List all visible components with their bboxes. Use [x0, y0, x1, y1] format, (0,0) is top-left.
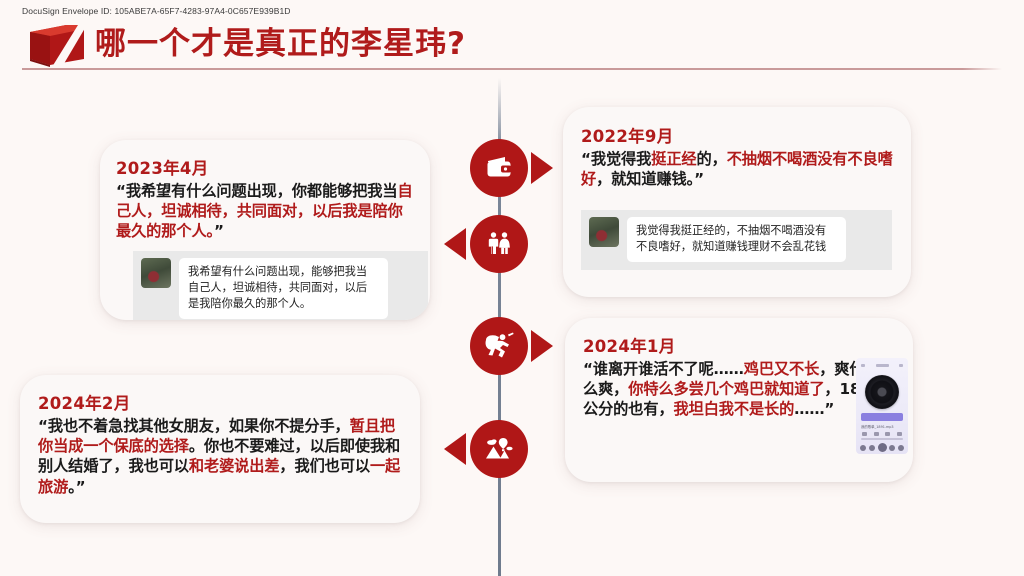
card-date: 2024年2月: [38, 390, 404, 414]
chat-screenshot: 我觉得我挺正经的，不抽烟不喝酒没有不良嗜好，就知道赚钱理财不会乱花钱: [581, 210, 892, 270]
card-quote: “我也不着急找其他女朋友，如果你不提分手，暂且把你当成一个保底的选择。你也不要难…: [38, 416, 404, 497]
play-pause-icon[interactable]: [878, 443, 887, 452]
back-arrow-icon: [861, 364, 865, 367]
player-transport-controls: [860, 443, 904, 452]
chat-message: 我觉得我挺正经的，不抽烟不喝酒没有不良嗜好，就知道赚钱理财不会乱花钱: [627, 217, 846, 262]
quote-run: “我也不着急找其他女朋友，如果你不提分手，: [38, 417, 350, 435]
quote-run: ，我们也可以: [279, 457, 370, 475]
quote-run-highlight: 挺正经: [651, 150, 696, 168]
timeline-arrow-right-2: [531, 330, 553, 362]
quote-run: ，就知道赚钱。”: [596, 170, 704, 188]
quote-run: ……”: [794, 400, 834, 418]
player-action-icons: [862, 431, 902, 436]
previous-icon[interactable]: [869, 445, 875, 451]
page-title: 哪一个才是真正的李星玮?: [95, 18, 466, 63]
book-icon: [26, 23, 88, 67]
page-header: 哪一个才是真正的李星玮?: [0, 20, 1024, 70]
chat-message: 我希望有什么问题出现，能够把我当自己人，坦诚相待，共同面对，以后是我陪你最久的那…: [179, 258, 388, 319]
vinyl-record-icon: [865, 375, 899, 409]
couple-icon: [484, 229, 514, 259]
timeline-node-couple[interactable]: [470, 215, 528, 273]
timeline-node-wallet[interactable]: [470, 139, 528, 197]
like-icon[interactable]: [862, 432, 867, 436]
share-icon[interactable]: [897, 432, 902, 436]
timeline-node-superhero[interactable]: [470, 317, 528, 375]
timeline-card-2022-09[interactable]: 2022年9月 “我觉得我挺正经的，不抽烟不喝酒没有不良嗜好，就知道赚钱。” 我…: [563, 107, 911, 297]
next-icon[interactable]: [889, 445, 895, 451]
timeline-arrow-right-1: [531, 152, 553, 184]
quote-run-highlight: 鸡巴又不长: [744, 360, 819, 378]
superhero-icon: [483, 331, 515, 361]
music-player-screenshot: 我的歌单_1891.mp3: [856, 358, 908, 454]
timeline-node-travel[interactable]: [470, 420, 528, 478]
timeline-arrow-left-1: [444, 228, 466, 260]
player-status-bar: [861, 363, 903, 368]
quote-run: “我觉得我: [581, 150, 651, 168]
player-seek-bar[interactable]: [861, 438, 903, 440]
travel-landscape-icon: [484, 434, 514, 464]
card-date: 2022年9月: [581, 123, 895, 147]
card-date: 2024年1月: [583, 333, 899, 357]
quote-run: 。”: [68, 478, 85, 496]
player-banner: [861, 413, 903, 421]
chat-screenshot: 我希望有什么问题出现，能够把我当自己人，坦诚相待，共同面对，以后是我陪你最久的那…: [133, 251, 428, 320]
docusign-envelope-id: DocuSign Envelope ID: 105ABE7A-65F7-4283…: [22, 6, 291, 16]
wallet-icon: [484, 153, 514, 183]
timeline-card-2023-04[interactable]: 2023年4月 “我希望有什么问题出现，你都能够把我当自己人，坦诚相待，共同面对…: [100, 140, 430, 320]
quote-run-highlight: 和老婆说出差: [189, 457, 280, 475]
quote-run: ”: [214, 222, 224, 240]
more-icon: [899, 364, 903, 367]
repeat-icon[interactable]: [860, 445, 866, 451]
player-track-label: 我的歌单_1891.mp3: [861, 424, 894, 429]
playlist-icon[interactable]: [898, 445, 904, 451]
avatar: [141, 258, 171, 288]
timeline-card-2024-02[interactable]: 2024年2月 “我也不着急找其他女朋友，如果你不提分手，暂且把你当成一个保底的…: [20, 375, 420, 523]
quote-run: “我希望有什么问题出现，你都能够把我当: [116, 182, 397, 200]
download-icon[interactable]: [874, 432, 879, 436]
player-title-placeholder: [876, 364, 889, 367]
card-quote: “我觉得我挺正经的，不抽烟不喝酒没有不良嗜好，就知道赚钱。”: [581, 149, 895, 189]
quote-run-highlight: 你特么多尝几个鸡巴就知道了: [628, 380, 824, 398]
quote-run-highlight: 我坦白我不是长的: [674, 400, 795, 418]
avatar: [589, 217, 619, 247]
timeline-card-2024-01[interactable]: 2024年1月 “谁离开谁活不了呢……鸡巴又不长，爽什么爽，你特么多尝几个鸡巴就…: [565, 318, 913, 482]
timeline-arrow-left-2: [444, 433, 466, 465]
card-quote: “我希望有什么问题出现，你都能够把我当自己人，坦诚相待，共同面对，以后我是陪你最…: [116, 181, 416, 242]
card-quote: “谁离开谁活不了呢……鸡巴又不长，爽什么爽，你特么多尝几个鸡巴就知道了，18公分…: [583, 359, 868, 420]
quote-run: 的，: [697, 150, 727, 168]
quote-run: “谁离开谁活不了呢……: [583, 360, 744, 378]
card-date: 2023年4月: [116, 155, 416, 179]
title-divider: [22, 68, 1002, 70]
comment-icon[interactable]: [885, 432, 890, 436]
